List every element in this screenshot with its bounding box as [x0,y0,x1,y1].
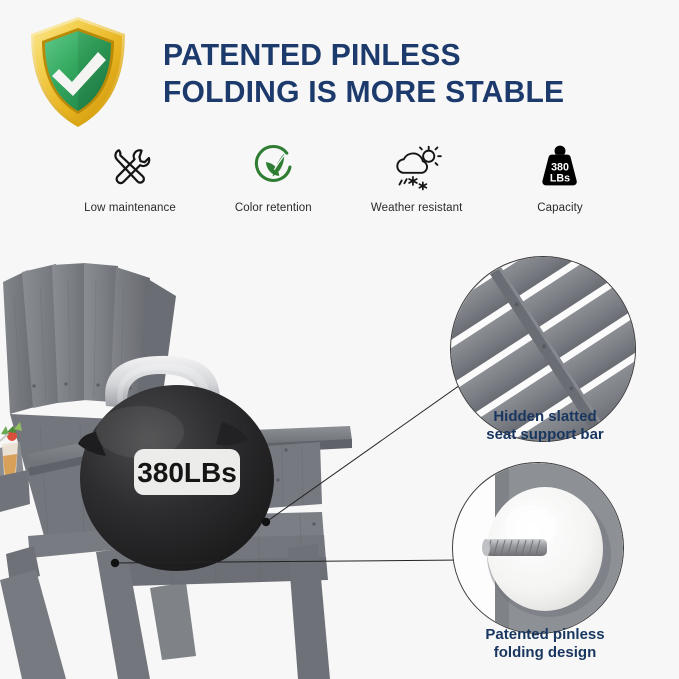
feature-label: Low maintenance [84,202,176,214]
feature-color-retention: Color retention [203,138,343,230]
weight-icon: 380 LBs [536,138,584,196]
callout-label-line-2: seat support bar [430,426,660,444]
product-infographic: PATENTED PINLESS FOLDING IS MORE STABLE … [0,0,679,679]
leaf-circle-icon [248,138,298,196]
feature-label: Capacity [537,202,583,214]
header: PATENTED PINLESS FOLDING IS MORE STABLE [0,0,679,130]
feature-weather-resistant: Weather resistant [347,138,487,230]
kettlebell-label: 380LBs [137,457,237,488]
capacity-value: 380 [551,161,569,173]
cloud-sun-snow-icon [390,138,444,196]
headline-line-1: PATENTED PINLESS [163,37,461,72]
callout-label-line-1: Hidden slatted [430,408,660,426]
callout-patented-pinless-folding-design-image [452,462,624,634]
shield-check-icon [26,14,130,130]
feature-low-maintenance: Low maintenance [60,138,200,230]
callout-patented-pinless-folding-design-label: Patented pinless folding design [430,626,660,662]
headline-line-2: FOLDING IS MORE STABLE [163,73,648,110]
wrench-screwdriver-icon [104,138,156,196]
callout-label-line-2: folding design [430,644,660,662]
feature-list: Low maintenance Color retention [60,138,630,230]
feature-capacity: 380 LBs Capacity [490,138,630,230]
callout-hidden-slatted-seat-support-bar-label: Hidden slatted seat support bar [430,408,660,444]
product-photo: 380LBs [0,236,440,679]
capacity-unit: LBs [550,173,570,185]
feature-label: Color retention [235,202,312,214]
page-title: PATENTED PINLESS FOLDING IS MORE STABLE [163,36,648,110]
feature-label: Weather resistant [371,202,463,214]
callout-label-line-1: Patented pinless [430,626,660,644]
